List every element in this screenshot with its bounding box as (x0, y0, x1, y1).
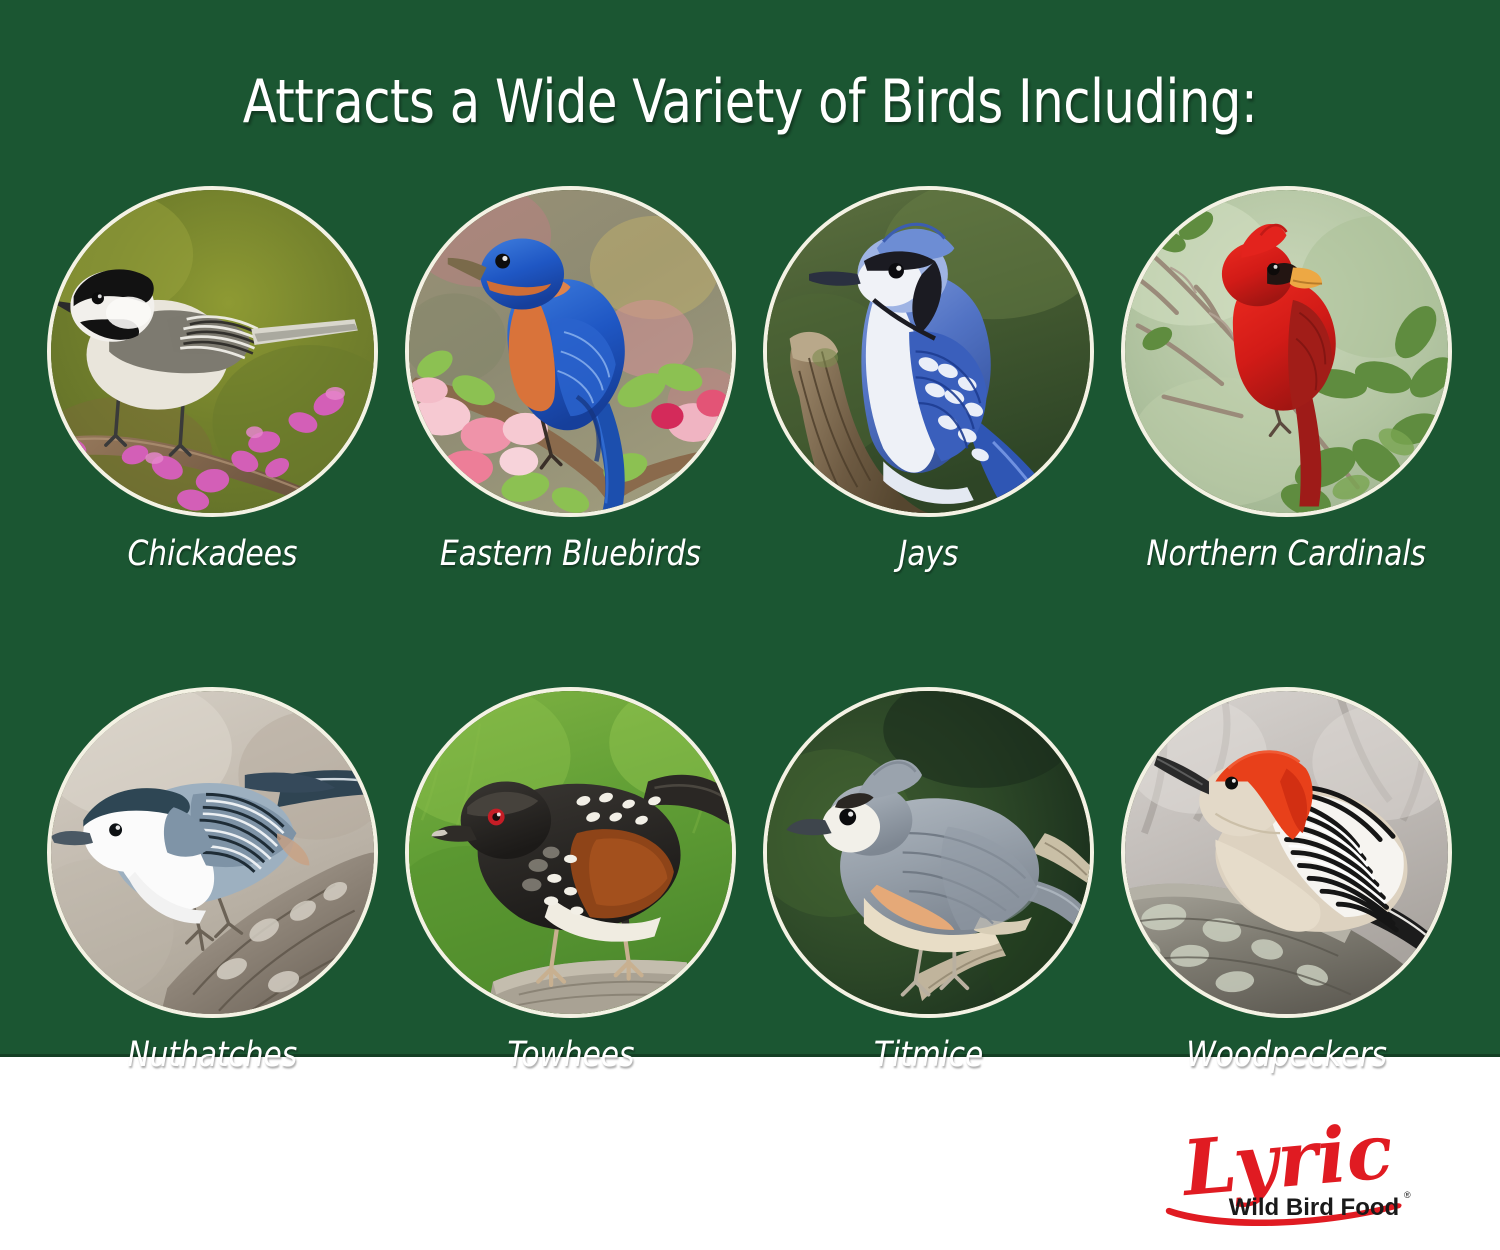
chickadee-photo (47, 186, 378, 517)
bird-label: Nuthatches (128, 1037, 298, 1074)
bird-cell-titmice: Titmice (763, 687, 1094, 1074)
bird-cell-towhees: Towhees (405, 687, 736, 1074)
eastern-bluebird-photo (405, 186, 736, 517)
bird-label: Jays (899, 536, 959, 573)
bird-label: Towhees (507, 1037, 634, 1074)
registered-mark: ® (1404, 1190, 1411, 1200)
towhee-photo (405, 687, 736, 1018)
titmouse-photo (763, 687, 1094, 1018)
nuthatch-photo (47, 687, 378, 1018)
bird-label: Woodpeckers (1186, 1037, 1387, 1074)
page-title: Attracts a Wide Variety of Birds Includi… (60, 72, 1440, 132)
bird-cell-nuthatches: Nuthatches (47, 687, 378, 1074)
bird-cell-eastern-bluebirds: Eastern Bluebirds (405, 186, 736, 573)
northern-cardinal-photo (1121, 186, 1452, 517)
bird-row-top: Chickadees (47, 186, 1453, 573)
bird-cell-chickadees: Chickadees (47, 186, 378, 573)
woodpecker-photo (1121, 687, 1452, 1018)
bird-label: Titmice (874, 1037, 983, 1074)
bird-cell-jays: Jays (763, 186, 1094, 573)
bird-label: Chickadees (128, 536, 298, 573)
bird-grid: Chickadees (47, 186, 1453, 1074)
blue-jay-photo (763, 186, 1094, 517)
bird-cell-woodpeckers: Woodpeckers (1121, 687, 1452, 1074)
promo-graphic: Attracts a Wide Variety of Birds Includi… (0, 0, 1500, 1250)
bird-cell-northern-cardinals: Northern Cardinals (1121, 186, 1452, 573)
brand-logo: Lyric Wild Bird Food ® (1142, 1104, 1442, 1234)
logo-tagline: Wild Bird Food (1229, 1194, 1399, 1221)
bird-label: Northern Cardinals (1147, 536, 1426, 573)
bird-row-bottom: Nuthatches (47, 687, 1453, 1074)
bird-label: Eastern Bluebirds (440, 536, 701, 573)
